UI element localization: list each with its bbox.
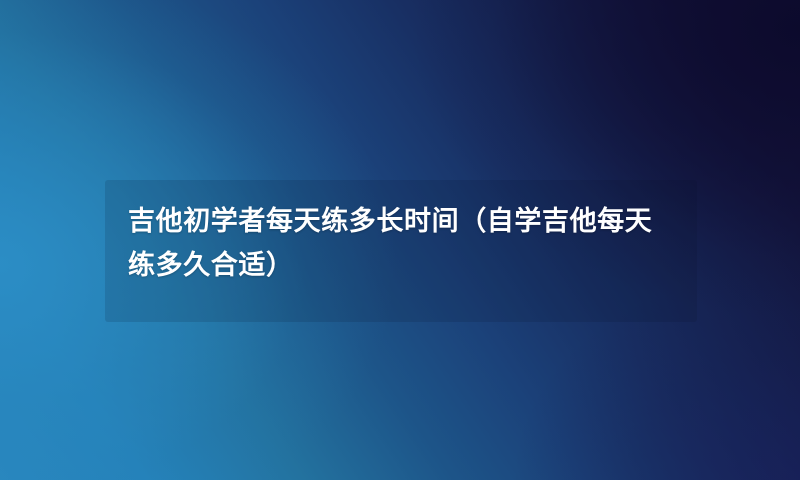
page-title: 吉他初学者每天练多长时间（自学吉他每天练多久合适） xyxy=(128,200,673,288)
title-overlay-panel: 吉他初学者每天练多长时间（自学吉他每天练多久合适） xyxy=(105,180,697,322)
article-title-card: 吉他初学者每天练多长时间（自学吉他每天练多久合适） xyxy=(0,0,800,480)
